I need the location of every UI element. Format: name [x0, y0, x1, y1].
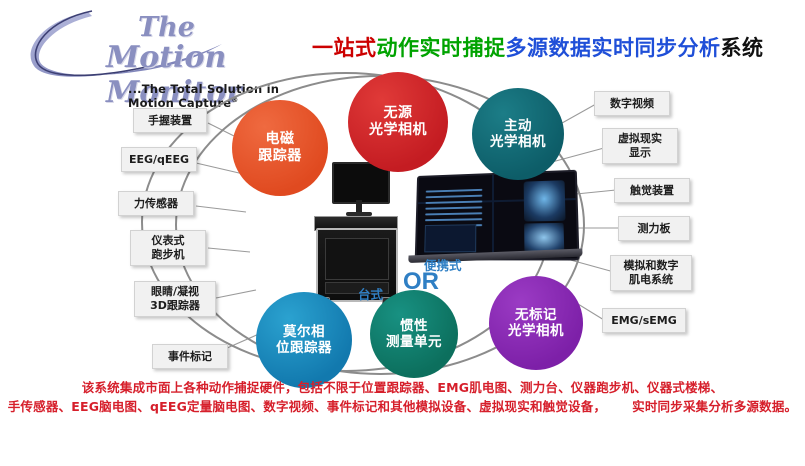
caption-line-1: 该系统集成市面上各种动作捕捉硬件，包括不限于位置跟踪器、EMG肌电图、测力台、仪… — [0, 378, 805, 397]
bubble-em-line2: 跟踪器 — [258, 148, 302, 165]
tag-analog-digital-emg-system[interactable]: 模拟和数字 肌电系统 — [610, 255, 692, 291]
tag-eye-gaze-line1: 眼睛/凝视 — [150, 285, 200, 299]
caption-line-2b: 实时同步采集分析多源数据。 — [632, 399, 797, 414]
bubble-active-line1: 主动 — [490, 118, 546, 134]
tag-force-sensor-line1: 力传感器 — [134, 197, 178, 211]
tag-event-marker-line1: 事件标记 — [168, 350, 212, 364]
tag-digital-video[interactable]: 数字视频 — [594, 91, 670, 116]
bubble-active-optical-camera[interactable]: 主动 光学相机 — [472, 88, 564, 180]
cart-equipment-bay — [325, 238, 389, 280]
tag-digital-video-line1: 数字视频 — [610, 97, 654, 111]
tag-treadmill-line1: 仪表式 — [152, 234, 185, 248]
bubble-passive-optical-camera[interactable]: 无源 光学相机 — [348, 72, 448, 172]
desktop-cart — [316, 228, 398, 302]
tag-haptic-line1: 触觉装置 — [630, 184, 674, 198]
bubble-moire-phase-tracker[interactable]: 莫尔相 位跟踪器 — [256, 292, 352, 388]
tag-eeg-qeeg[interactable]: EEG/qEEG — [121, 147, 197, 172]
portable-label: 便携式 — [424, 255, 462, 274]
tag-force-plate-line1: 测力板 — [638, 222, 671, 236]
tag-force-sensor[interactable]: 力传感器 — [118, 191, 194, 216]
bubble-passive-line2: 光学相机 — [369, 122, 427, 139]
tag-vr-line2: 显示 — [618, 146, 662, 160]
bubble-markerless-optical-camera[interactable]: 无标记 光学相机 — [489, 276, 583, 370]
tag-instrumented-treadmill[interactable]: 仪表式 跑步机 — [130, 230, 206, 266]
tag-eye-gaze-3d-tracker[interactable]: 眼睛/凝视 3D跟踪器 — [134, 281, 216, 317]
slide-canvas: The Motion Monitor ...The Total Solution… — [0, 0, 805, 466]
tag-force-plate[interactable]: 测力板 — [618, 216, 690, 241]
tag-handheld-device[interactable]: 手握装置 — [133, 108, 207, 133]
bubble-em-line1: 电磁 — [258, 131, 302, 148]
tag-eeg-line1: EEG/qEEG — [129, 153, 189, 167]
bubble-markerless-line1: 无标记 — [508, 307, 564, 323]
screen-divider-v — [492, 175, 494, 258]
tag-eye-gaze-line2: 3D跟踪器 — [150, 299, 200, 313]
tag-haptic-device[interactable]: 触觉装置 — [614, 178, 690, 203]
portable-laptop — [415, 170, 580, 261]
tag-handheld-line1: 手握装置 — [148, 114, 192, 128]
screen-graph-panel — [424, 224, 476, 252]
bubble-inertial-measurement-unit[interactable]: 惯性 测量单元 — [370, 290, 458, 378]
tag-vr-line1: 虚拟现实 — [618, 132, 662, 146]
desktop-label: 台式 — [358, 284, 383, 303]
screen-3d-skeleton — [524, 180, 566, 221]
bubble-active-line2: 光学相机 — [490, 134, 546, 150]
bubble-markerless-line2: 光学相机 — [508, 323, 564, 339]
bubble-imu-line1: 惯性 — [386, 318, 442, 334]
bubble-imu-line2: 测量单元 — [386, 334, 442, 350]
bubble-moire-line2: 位跟踪器 — [276, 340, 332, 356]
bubble-moire-line1: 莫尔相 — [276, 324, 332, 340]
tag-emg-system-line1: 模拟和数字 — [624, 259, 679, 273]
bubble-passive-line1: 无源 — [369, 105, 427, 122]
screen-video-feed — [524, 223, 564, 252]
tag-emg-system-line2: 肌电系统 — [624, 273, 679, 287]
bubble-electromagnetic-tracker[interactable]: 电磁 跟踪器 — [232, 100, 328, 196]
tag-virtual-reality-display[interactable]: 虚拟现实 显示 — [602, 128, 678, 164]
tag-event-marker[interactable]: 事件标记 — [152, 344, 228, 369]
tag-emg-semg-line1: EMG/sEMG — [611, 314, 677, 328]
tag-treadmill-line2: 跑步机 — [152, 248, 185, 262]
caption-line-2: 手传感器、EEG脑电图、qEEG定量脑电图、数字视频、事件标记和其他模拟设备、虚… — [0, 397, 805, 416]
caption-line-2a: 手传感器、EEG脑电图、qEEG定量脑电图、数字视频、事件标记和其他模拟设备、虚… — [8, 399, 606, 414]
bottom-caption: 该系统集成市面上各种动作捕捉硬件，包括不限于位置跟踪器、EMG肌电图、测力台、仪… — [0, 378, 805, 417]
tag-emg-semg[interactable]: EMG/sEMG — [602, 308, 686, 333]
